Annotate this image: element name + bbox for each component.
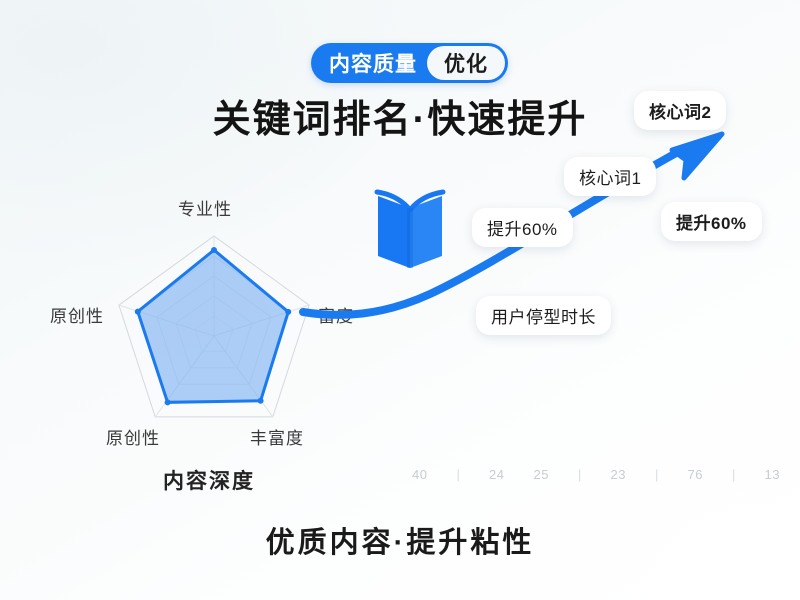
radar-chart: 专业性 富度 丰富度 原创性 原创性 — [88, 210, 340, 462]
radar-axis-label-4: 原创性 — [50, 302, 104, 327]
tick-value-5: 13 — [764, 467, 779, 482]
quality-badge: 内容质量 优化 — [311, 43, 508, 83]
callout-uplift-right: 提升60% — [661, 202, 762, 241]
tick-mark-0: | — [457, 467, 460, 482]
tick-mark-1: | — [578, 467, 581, 482]
badge-primary-label: 内容质量 — [311, 43, 427, 83]
badge-secondary-label: 优化 — [427, 46, 505, 80]
tick-value-2: 25 — [534, 467, 549, 482]
callout-dwell-time: 用户停型时长 — [476, 296, 611, 335]
baseline-tick-row: 40 | 24 25 | 23 | 76 | 13 — [412, 463, 780, 485]
radar-axis-label-2: 丰富度 — [250, 424, 304, 449]
poster-canvas: 内容质量 优化 关键词排名·快速提升 — [0, 0, 800, 600]
footer-tagline: 优质内容·提升粘性 — [0, 519, 800, 561]
tick-value-1: 24 — [489, 467, 504, 482]
tick-value-0: 40 — [412, 467, 427, 482]
callout-uplift-left: 提升60% — [472, 208, 573, 247]
radar-axis-label-3: 原创性 — [106, 424, 160, 449]
tick-value-3: 23 — [611, 467, 626, 482]
open-book-icon — [372, 188, 448, 274]
tick-value-4: 76 — [687, 467, 702, 482]
tick-mark-2: | — [655, 467, 658, 482]
radar-series-content-quality — [135, 247, 291, 405]
radar-axis-label-0: 专业性 — [178, 195, 232, 220]
radar-axis-label-1: 富度 — [318, 302, 354, 327]
callout-core-keyword-2: 核心词2 — [634, 91, 726, 130]
tick-mark-3: | — [732, 467, 735, 482]
callout-core-keyword-1: 核心词1 — [564, 157, 656, 196]
content-depth-caption: 内容深度 — [163, 465, 255, 495]
